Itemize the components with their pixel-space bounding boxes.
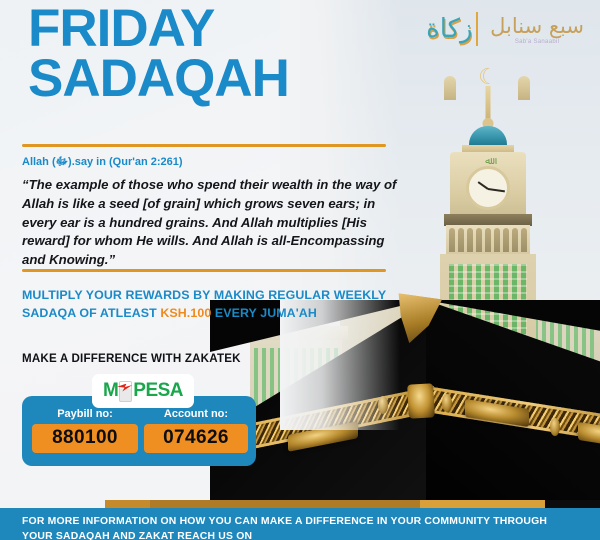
suggested-amount: KSH.100 — [160, 306, 211, 320]
sabaa-latin-wordmark: Sab'a Sanaabil — [490, 39, 584, 45]
title-line-1: FRIDAY — [28, 4, 289, 54]
page-title: FRIDAY SADAQAH — [28, 4, 289, 105]
clock-hour-hand — [478, 181, 489, 190]
ayah-text: “The example of those who spend their we… — [22, 176, 402, 270]
account-value[interactable]: 074626 — [144, 424, 248, 453]
friday-sadaqah-poster: ☾ ﷲ — [0, 0, 600, 540]
footer-accent-strip — [0, 500, 600, 508]
footer-text: FOR MORE INFORMATION ON HOW YOU CAN MAKE… — [22, 514, 562, 540]
sabaa-sanaabil-logo: سبع سنابل Sab'a Sanaabil — [490, 14, 584, 45]
spire-needle — [486, 86, 491, 122]
mpesa-phone-icon — [119, 381, 132, 402]
mpesa-letters-pesa: PESA — [133, 380, 183, 402]
kiswah-corner-medallion — [407, 383, 435, 418]
account-column: Account no: 074626 — [144, 408, 248, 453]
ayah-reference: Allah (ﷻ).say in (Qur'an 2:261) — [22, 155, 183, 171]
mpesa-wordmark: MPESA — [103, 380, 183, 402]
ayah-ref-prefix: Allah ( — [22, 156, 56, 168]
divider-top — [22, 144, 386, 147]
clock-face-icon — [466, 166, 510, 210]
multiply-rewards-message: MULTIPLY YOUR REWARDS BY MAKING REGULAR … — [22, 287, 394, 323]
paybill-value[interactable]: 880100 — [32, 424, 138, 453]
account-label: Account no: — [144, 408, 248, 420]
clock-minute-hand — [488, 188, 505, 192]
footer-band: FOR MORE INFORMATION ON HOW YOU CAN MAKE… — [0, 508, 600, 540]
crescent-icon: ☾ — [477, 66, 499, 88]
paybill-column: Paybill no: 880100 — [32, 408, 138, 453]
logo-group: زكاة سبع سنابل Sab'a Sanaabil — [426, 8, 584, 50]
paybill-label: Paybill no: — [32, 408, 138, 420]
tower-finial-left — [444, 76, 456, 100]
tower-arcade — [446, 225, 530, 255]
tower-finial-right — [518, 76, 530, 100]
multiply-part-2: EVERY JUMA'AH — [211, 306, 317, 320]
logo-divider — [476, 12, 478, 46]
kiswah-drop-3 — [550, 418, 560, 436]
zakat-logo: زكاة — [426, 8, 464, 50]
sabaa-arabic-wordmark: سبع سنابل — [490, 14, 584, 38]
mpesa-letter-m: M — [103, 380, 118, 402]
kiswah-drop-2 — [442, 394, 452, 412]
make-a-difference-heading: MAKE A DIFFERENCE WITH ZAKATEK — [22, 352, 241, 365]
jalla-jalaluhu-glyph: ﷻ — [56, 155, 68, 168]
ayah-ref-suffix: ).say in (Qur'an 2:261) — [68, 156, 183, 168]
title-line-2: SADAQAH — [28, 54, 289, 104]
mpesa-logo: MPESA — [92, 374, 194, 408]
